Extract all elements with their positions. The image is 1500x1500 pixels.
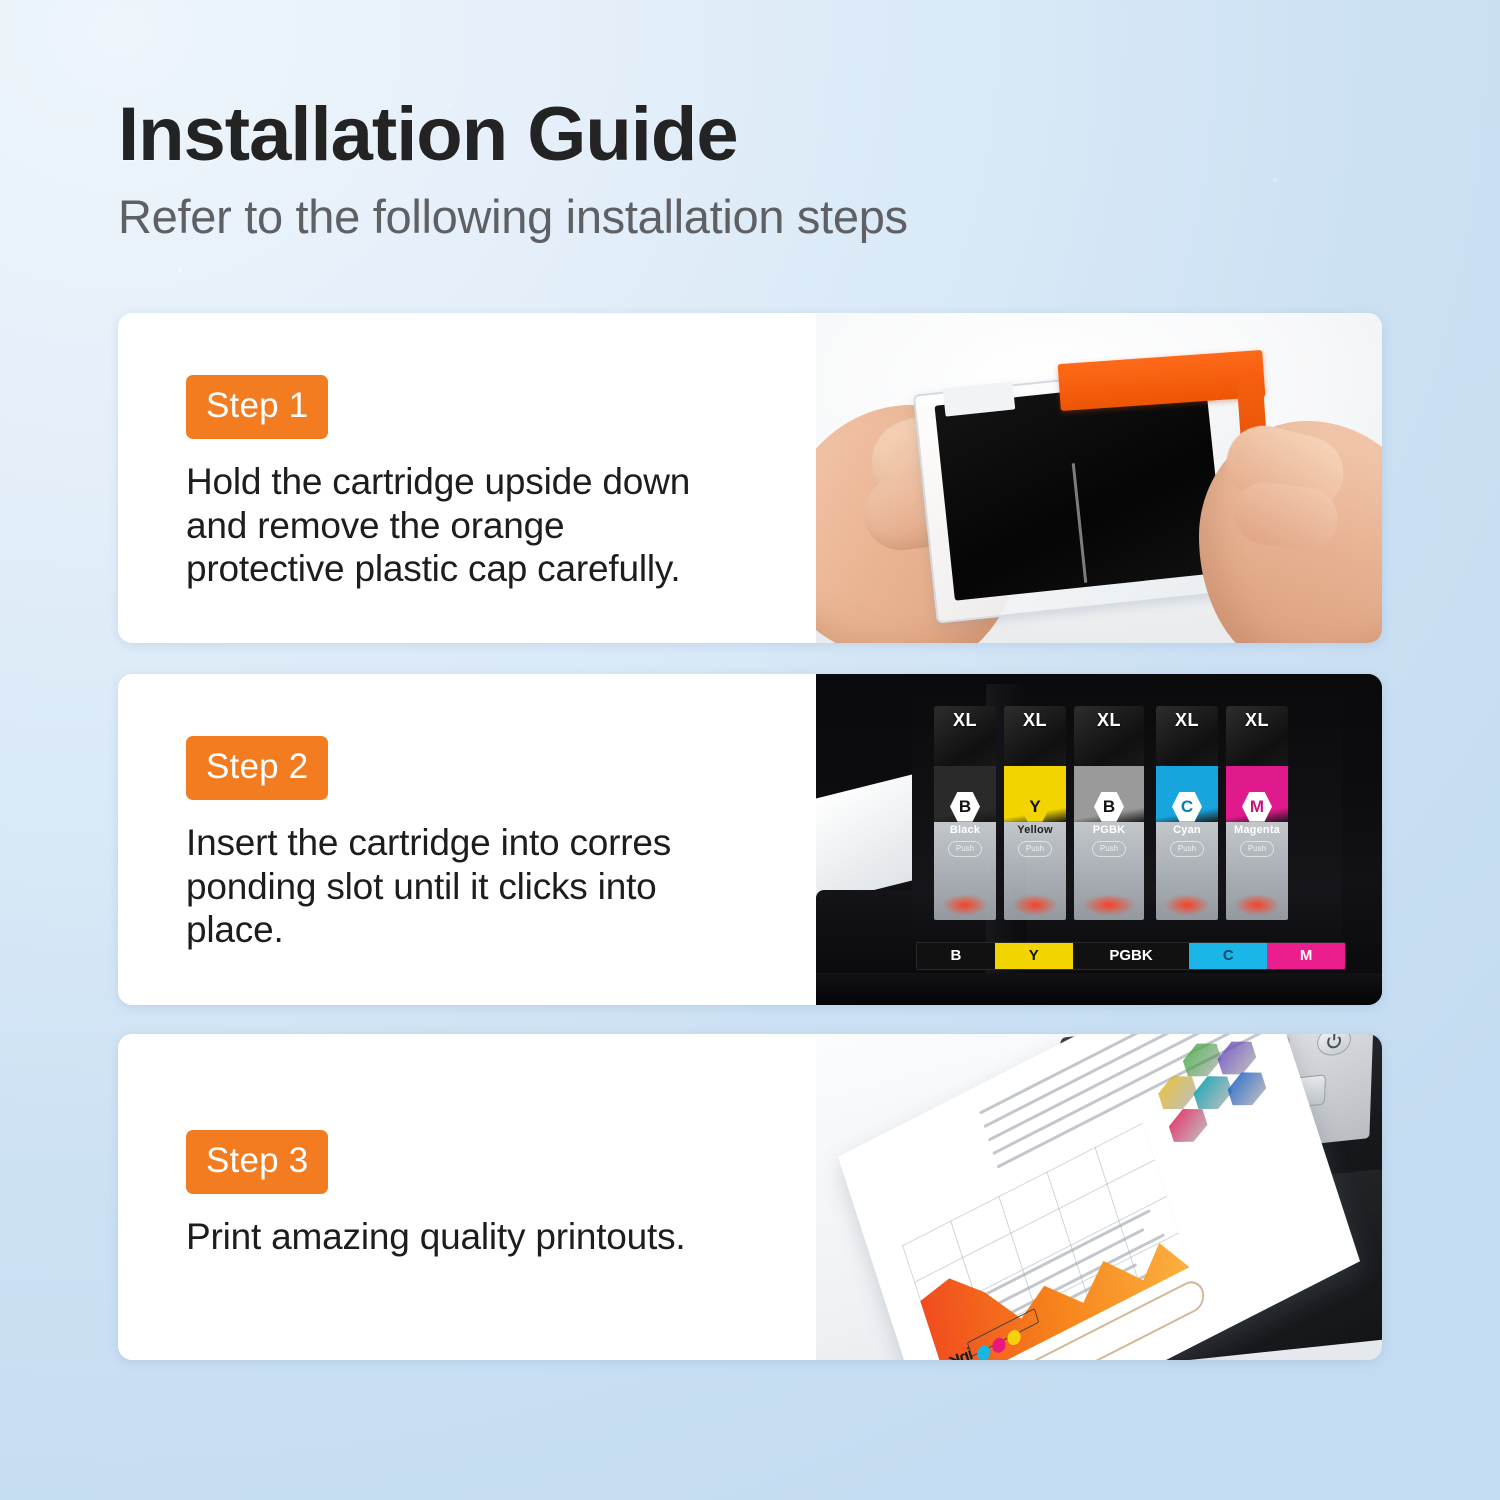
step-2-text-panel: Step 2 Insert the cartridge into corres …	[118, 674, 816, 1005]
cartridge-push-tab[interactable]: Push	[1240, 841, 1274, 857]
cartridge-xl-label: XL	[1156, 710, 1218, 731]
step-card-1: Step 1 Hold the cartridge upside down an…	[118, 313, 1382, 643]
step-3-badge: Step 3	[186, 1130, 328, 1194]
slot-label-b: B	[917, 943, 995, 969]
cartridge-push-tab[interactable]: Push	[1170, 841, 1204, 857]
page-header: Installation Guide Refer to the followin…	[118, 95, 1218, 242]
cartridge-push-tab[interactable]: Push	[1092, 841, 1126, 857]
page-subtitle: Refer to the following installation step…	[118, 191, 1218, 243]
slot-label-y: Y	[995, 943, 1073, 969]
cartridge-xl-label: XL	[1226, 710, 1288, 731]
cartridge-letter-hex-icon: Y	[1020, 792, 1050, 822]
cartridge-badge: CCyan	[1156, 792, 1218, 836]
cartridge-badge: BPGBK	[1074, 792, 1144, 836]
cartridge-xl-label: XL	[1004, 710, 1066, 731]
step-1-description: Hold the cartridge upside down and remov…	[186, 460, 776, 591]
cartridge-letter-hex-icon: M	[1242, 792, 1272, 822]
page-title: Installation Guide	[118, 95, 1218, 175]
cartridge-slot-cyan[interactable]: XLCCyanPush	[1156, 706, 1218, 920]
step-1-text-panel: Step 1 Hold the cartridge upside down an…	[118, 313, 816, 643]
cartridge-badge: MMagenta	[1226, 792, 1288, 836]
slot-label-c: C	[1189, 943, 1267, 969]
cartridge-xl-label: XL	[1074, 710, 1144, 731]
cartridge-xl-label: XL	[934, 710, 996, 731]
step-1-photo	[816, 313, 1382, 643]
step-2-badge: Step 2	[186, 736, 328, 800]
cartridge-letter-hex-icon: B	[950, 792, 980, 822]
step-3-photo: inK	[816, 1034, 1382, 1360]
cartridge-color-name: Magenta	[1226, 824, 1288, 836]
cartridge-letter-hex-icon: C	[1172, 792, 1202, 822]
cartridge-color-name: Yellow	[1004, 824, 1066, 836]
step-3-text-panel: Step 3 Print amazing quality printouts.	[118, 1034, 816, 1360]
step-2-description: Insert the cartridge into corres ponding…	[186, 821, 776, 952]
step-3-description: Print amazing quality printouts.	[186, 1215, 776, 1259]
cartridge-led-glow	[1012, 894, 1058, 916]
cartridge-led-glow	[1234, 894, 1280, 916]
cartridge-push-tab[interactable]: Push	[948, 841, 982, 857]
printer-base	[816, 973, 1382, 1005]
step-card-3: Step 3 Print amazing quality printouts.	[118, 1034, 1382, 1360]
cartridge-letter-hex-icon: B	[1094, 792, 1124, 822]
cartridge-led-glow	[942, 894, 988, 916]
power-symbol-stem-icon	[1333, 1034, 1335, 1040]
slot-label-m: M	[1267, 943, 1345, 969]
cartridge-slot-yellow[interactable]: XLYYellowPush	[1004, 706, 1066, 920]
cartridge-badge: YYellow	[1004, 792, 1066, 836]
cartridge-color-name: Black	[934, 824, 996, 836]
cartridge-slot-pgbk[interactable]: XLBPGBKPush	[1074, 706, 1144, 920]
slot-color-label-strip: BYPGBKCM	[916, 942, 1346, 970]
cartridge-led-glow	[1082, 894, 1136, 916]
step-card-2: Step 2 Insert the cartridge into corres …	[118, 674, 1382, 1005]
cartridge-push-tab[interactable]: Push	[1018, 841, 1052, 857]
cartridge-slot-magenta[interactable]: XLMMagentaPush	[1226, 706, 1288, 920]
step-2-photo: XLBBlackPushXLYYellowPushXLBPGBKPushXLCC…	[816, 674, 1382, 1005]
cartridge-color-name: Cyan	[1156, 824, 1218, 836]
step-1-badge: Step 1	[186, 375, 328, 439]
cartridge-color-name: PGBK	[1074, 824, 1144, 836]
slot-label-pgbk: PGBK	[1073, 943, 1190, 969]
cartridge-slot-black[interactable]: XLBBlackPush	[934, 706, 996, 920]
cartridge-led-glow	[1164, 894, 1210, 916]
printed-hexagon-cubes	[1141, 1034, 1283, 1165]
cartridge-badge: BBlack	[934, 792, 996, 836]
installation-guide-page: Installation Guide Refer to the followin…	[0, 0, 1500, 1500]
